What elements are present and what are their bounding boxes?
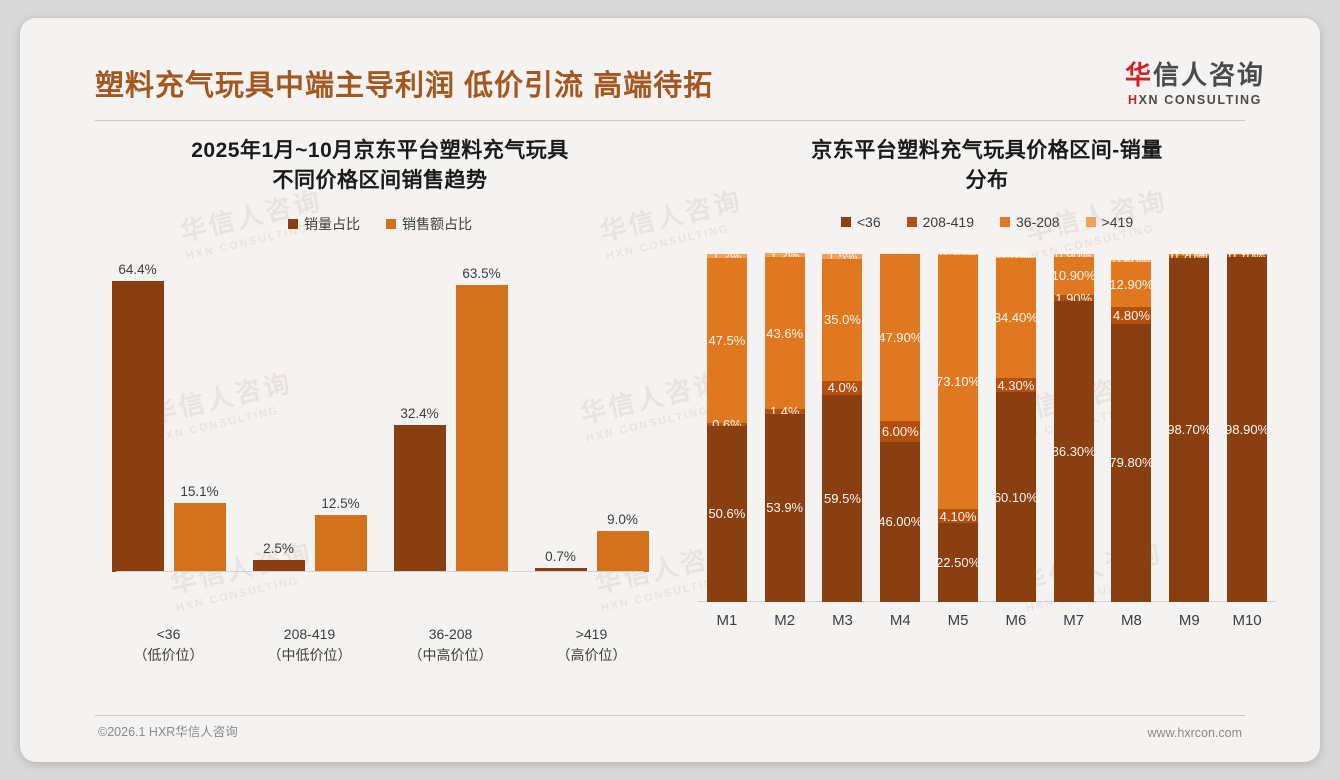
left-chart-x-label-range: 208-419 (239, 624, 380, 646)
left-chart-title-line2: 不同价格区间销售趋势 (80, 166, 680, 196)
right-chart-segment-value: 98.90% (1225, 422, 1269, 437)
left-chart-title-line1: 2025年1月~10月京东平台塑料充气玩具 (80, 136, 680, 166)
right-chart-title-line2: 分布 (692, 166, 1282, 196)
right-chart-segment[interactable]: 4.10% (938, 509, 978, 523)
left-chart-x-label-range: >419 (521, 624, 662, 646)
right-chart-segment-value: 50.6% (708, 506, 745, 521)
slide-canvas: 华信人咨询HXN CONSULTING 华信人咨询HXN CONSULTING … (20, 18, 1320, 762)
right-chart-segment-value: 22.50% (936, 555, 980, 570)
page-title: 塑料充气玩具中端主导利润 低价引流 高端待拓 (95, 62, 713, 104)
left-chart-x-labels: <36（低价位）208-419（中低价位）36-208（中高价位）>419（高价… (98, 614, 662, 667)
right-legend-item[interactable]: 208-419 (907, 214, 974, 230)
right-chart-segment-value: 43.6% (766, 326, 803, 341)
right-chart-bars: 1.2%47.5%0.6%50.6%1.2%43.6%1.4%53.9%1.5%… (692, 250, 1282, 602)
left-chart-bar-wrap: 12.5% (315, 214, 367, 614)
right-chart-segment-value: 12.90% (1109, 277, 1153, 292)
right-legend-item[interactable]: 36-208 (1000, 214, 1060, 230)
right-chart-segment[interactable]: 4.80% (1111, 307, 1151, 324)
right-chart-x-label: M10 (1218, 612, 1276, 629)
left-chart-title: 2025年1月~10月京东平台塑料充气玩具 不同价格区间销售趋势 (80, 136, 680, 196)
right-chart-stack[interactable]: 0.10%0.30%0.70%98.90% (1227, 250, 1267, 602)
left-chart-x-label-tier: （中高价位） (380, 645, 521, 667)
right-chart-segment[interactable]: 98.70% (1169, 258, 1209, 601)
left-chart-x-label-range: <36 (98, 624, 239, 646)
left-chart-x-axis (116, 571, 644, 572)
right-chart-stack[interactable]: 1.2%43.6%1.4%53.9% (765, 250, 805, 602)
right-chart-panel: 京东平台塑料充气玩具价格区间-销量 分布 <36208-41936-208>41… (692, 136, 1282, 716)
right-chart-segment-value: 4.0% (828, 380, 858, 395)
right-chart-x-label: M9 (1160, 612, 1218, 629)
right-chart-segment[interactable]: 46.00% (880, 442, 920, 602)
left-chart-panel: 2025年1月~10月京东平台塑料充气玩具 不同价格区间销售趋势 销量占比销售额… (80, 136, 680, 716)
left-chart-bar-value: 63.5% (462, 266, 500, 281)
right-chart-x-label: M1 (698, 612, 756, 629)
right-chart-x-label: M3 (814, 612, 872, 629)
right-chart-segment[interactable]: 73.10% (938, 255, 978, 509)
right-chart-segment[interactable]: 1.90% (1054, 295, 1094, 302)
left-chart-bar-value: 12.5% (321, 496, 359, 511)
right-chart-title: 京东平台塑料充气玩具价格区间-销量 分布 (692, 136, 1282, 196)
right-chart-stack[interactable]: 1.2%47.5%0.6%50.6% (707, 250, 747, 602)
right-legend-item[interactable]: <36 (841, 214, 881, 230)
right-chart-segment-value: 73.10% (936, 374, 980, 389)
footer-divider (95, 715, 1245, 716)
left-chart-x-label-tier: （高价位） (521, 645, 662, 667)
logo-en-accent: H (1128, 93, 1139, 107)
right-chart-legend: <36208-41936-208>419 (692, 214, 1282, 230)
slide-header: 塑料充气玩具中端主导利润 低价引流 高端待拓 华信人咨询 HXN CONSULT… (20, 18, 1320, 120)
legend-swatch-icon (907, 217, 917, 227)
right-chart-x-labels: M1M2M3M4M5M6M7M8M9M10 (692, 612, 1282, 629)
left-chart-bar-value: 32.4% (400, 406, 438, 421)
right-chart-segment-value: 34.40% (994, 310, 1038, 325)
right-chart-segment[interactable]: 35.0% (822, 259, 862, 381)
right-chart-column: 0.10%0.50%0.70%98.70% (1160, 250, 1218, 602)
right-chart-x-label: M4 (871, 612, 929, 629)
right-chart-stack[interactable]: 0.90%10.90%1.90%86.30% (1054, 250, 1094, 602)
right-chart-segment[interactable]: 6.00% (880, 421, 920, 442)
legend-label: 36-208 (1016, 214, 1060, 230)
left-chart-x-label: <36（低价位） (98, 624, 239, 667)
left-chart-group: 64.4%15.1% (98, 256, 239, 614)
right-chart-stack[interactable]: 0.00%47.90%6.00%46.00% (880, 250, 920, 602)
left-chart-x-label: >419（高价位） (521, 624, 662, 667)
left-chart-x-label-tier: （中低价位） (239, 645, 380, 667)
right-chart-column: 0.00%47.90%6.00%46.00% (871, 250, 929, 602)
right-chart-segment[interactable]: 10.90% (1054, 257, 1094, 295)
left-chart-x-label-range: 36-208 (380, 624, 521, 646)
right-chart-segment-value: 98.70% (1167, 422, 1211, 437)
right-chart-segment-value: 53.9% (766, 500, 803, 515)
left-chart-group: 2.5%12.5% (239, 256, 380, 614)
footer-copyright: ©2026.1 HXR华信人咨询 (98, 721, 238, 740)
right-chart-segment[interactable]: 4.0% (822, 381, 862, 395)
right-chart-x-label: M5 (929, 612, 987, 629)
left-chart-bar-wrap: 64.4% (112, 214, 164, 614)
right-legend-item[interactable]: >419 (1086, 214, 1134, 230)
right-chart-segment[interactable]: 86.30% (1054, 301, 1094, 601)
right-chart-plot-area: 1.2%47.5%0.6%50.6%1.2%43.6%1.4%53.9%1.5%… (692, 250, 1282, 650)
left-chart-bar[interactable] (597, 531, 649, 572)
right-chart-segment-value: 86.30% (1052, 444, 1096, 459)
right-chart-segment[interactable]: 60.10% (996, 392, 1036, 601)
left-chart-x-label: 36-208（中高价位） (380, 624, 521, 667)
right-chart-column: 0.10%34.40%4.30%60.10% (987, 250, 1045, 602)
legend-label: 208-419 (923, 214, 974, 230)
right-chart-stack[interactable]: 0.10%0.50%0.70%98.70% (1169, 250, 1209, 602)
left-chart-bar-wrap: 9.0% (597, 214, 649, 614)
right-chart-segment-value: 59.5% (824, 491, 861, 506)
right-chart-column: 1.2%47.5%0.6%50.6% (698, 250, 756, 602)
right-chart-column: 0.10%0.30%0.70%98.90% (1218, 250, 1276, 602)
right-chart-x-label: M6 (987, 612, 1045, 629)
right-chart-segment[interactable]: 98.90% (1227, 257, 1267, 601)
right-chart-segment[interactable]: 47.90% (880, 254, 920, 421)
right-chart-column: 1.2%43.6%1.4%53.9% (756, 250, 814, 602)
right-chart-segment-value: 46.00% (878, 514, 922, 529)
header-divider (95, 120, 1245, 121)
left-chart-legend: 销量占比销售额占比 (80, 214, 680, 234)
left-chart-bar-value: 9.0% (607, 512, 638, 527)
right-chart-segment-value: 10.90% (1052, 268, 1096, 283)
right-chart-x-label: M2 (756, 612, 814, 629)
right-chart-segment[interactable]: 53.9% (765, 414, 805, 602)
left-chart-bar-wrap: 0.7% (535, 214, 587, 614)
legend-label: <36 (857, 214, 881, 230)
left-chart-bar-value: 2.5% (263, 541, 294, 556)
legend-swatch-icon (1000, 217, 1010, 227)
left-chart-bar-value: 0.7% (545, 549, 576, 564)
left-chart-bar[interactable] (112, 281, 164, 572)
left-chart-bar-wrap: 32.4% (394, 214, 446, 614)
right-chart-segment-value: 4.30% (997, 378, 1034, 393)
right-chart-segment[interactable]: 12.90% (1111, 262, 1151, 307)
left-chart-bar-value: 15.1% (180, 484, 218, 499)
right-chart-column: 1.5%35.0%4.0%59.5% (814, 250, 872, 602)
left-chart-x-label-tier: （低价位） (98, 645, 239, 667)
right-chart-segment-value: 60.10% (994, 490, 1038, 505)
left-chart-bars: 64.4%15.1%2.5%12.5%32.4%63.5%0.7%9.0% (98, 256, 662, 614)
right-chart-stack[interactable]: 0.60%12.90%4.80%79.80% (1111, 250, 1151, 602)
right-chart-segment[interactable]: 50.6% (707, 426, 747, 602)
left-chart-bar[interactable] (456, 285, 508, 572)
right-chart-segment-value: 4.80% (1113, 308, 1150, 323)
right-chart-stack[interactable]: 1.5%35.0%4.0%59.5% (822, 250, 862, 602)
right-chart-segment[interactable]: 43.6% (765, 257, 805, 409)
right-chart-title-line1: 京东平台塑料充气玩具价格区间-销量 (692, 136, 1282, 166)
left-chart-group: 32.4%63.5% (380, 256, 521, 614)
right-chart-segment-value: 6.00% (882, 424, 919, 439)
right-chart-stack[interactable]: 0.20%73.10%4.10%22.50% (938, 250, 978, 602)
right-chart-segment-value: 35.0% (824, 312, 861, 327)
right-chart-column: 0.60%12.90%4.80%79.80% (1103, 250, 1161, 602)
footer-website: www.hxrcon.com (1148, 726, 1242, 740)
legend-label: >419 (1102, 214, 1134, 230)
right-chart-segment[interactable]: 22.50% (938, 523, 978, 601)
right-chart-segment[interactable]: 34.40% (996, 258, 1036, 378)
right-chart-stack[interactable]: 0.10%34.40%4.30%60.10% (996, 250, 1036, 602)
legend-swatch-icon (1086, 217, 1096, 227)
right-chart-segment-value: 47.5% (708, 333, 745, 348)
right-chart-x-label: M7 (1045, 612, 1103, 629)
right-chart-segment[interactable]: 4.30% (996, 378, 1036, 393)
right-chart-segment[interactable]: 79.80% (1111, 324, 1151, 602)
right-chart-segment[interactable]: 59.5% (822, 395, 862, 602)
left-chart-plot-area: 64.4%15.1%2.5%12.5%32.4%63.5%0.7%9.0% <3… (80, 256, 680, 656)
left-chart-bar-value: 64.4% (118, 262, 156, 277)
right-chart-column: 0.20%73.10%4.10%22.50% (929, 250, 987, 602)
left-chart-bar-wrap: 63.5% (456, 214, 508, 614)
logo-cn-rest: 信人咨询 (1153, 60, 1265, 90)
legend-swatch-icon (841, 217, 851, 227)
logo-accent-char: 华 (1125, 60, 1153, 90)
left-chart-bar[interactable] (315, 515, 367, 571)
right-chart-segment-value: 4.10% (940, 509, 977, 524)
left-chart-bar[interactable] (174, 503, 226, 571)
right-chart-x-label: M8 (1103, 612, 1161, 629)
left-chart-x-label: 208-419（中低价位） (239, 624, 380, 667)
left-chart-bar-wrap: 2.5% (253, 214, 305, 614)
right-chart-segment-value: 79.80% (1109, 455, 1153, 470)
logo-en-rest: XN CONSULTING (1139, 93, 1262, 107)
left-chart-bar[interactable] (394, 425, 446, 571)
right-chart-segment[interactable]: 47.5% (707, 258, 747, 423)
right-chart-column: 0.90%10.90%1.90%86.30% (1045, 250, 1103, 602)
right-chart-segment-value: 47.90% (878, 330, 922, 345)
left-chart-bar-wrap: 15.1% (174, 214, 226, 614)
brand-logo: 华信人咨询 HXN CONSULTING (1125, 62, 1265, 107)
left-chart-group: 0.7%9.0% (521, 256, 662, 614)
